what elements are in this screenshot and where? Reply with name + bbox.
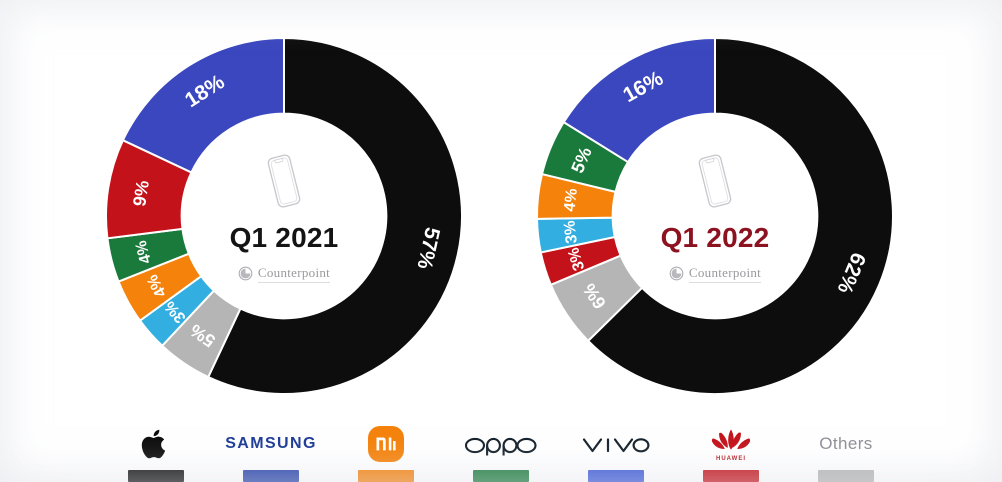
- oppo-logo-wrap: [464, 424, 538, 464]
- legend-item-oppo[interactable]: [444, 418, 559, 482]
- donut-svg-q1-2021: 57%5%3%4%4%9%18%: [104, 36, 464, 396]
- legend-item-huawei[interactable]: HUAWEI: [674, 418, 789, 482]
- legend-item-xiaomi[interactable]: [329, 418, 444, 482]
- vivo-wordmark-icon: [581, 431, 651, 457]
- legend-swatch-samsung: [243, 470, 299, 482]
- xiaomi-logo-wrap: [367, 424, 405, 464]
- huawei-logo-icon: [710, 427, 752, 455]
- xiaomi-mi-logo-icon: [367, 425, 405, 463]
- samsung-logo-wrap: SAMSUNG: [225, 424, 317, 464]
- segment-value-huawei: 9%: [129, 179, 153, 208]
- huawei-logo-wrap: HUAWEI: [710, 424, 752, 464]
- legend-item-others[interactable]: Others: [789, 418, 904, 482]
- huawei-wordmark-label: HUAWEI: [716, 456, 746, 462]
- donut-segments-q1-2021: [106, 38, 462, 394]
- apple-logo-wrap: [141, 424, 171, 464]
- oppo-wordmark-icon: [464, 431, 538, 457]
- donut-svg-q1-2022: 62%6%3%3%4%5%16%: [535, 36, 895, 396]
- legend-item-vivo[interactable]: [559, 418, 674, 482]
- vivo-logo-wrap: [581, 424, 651, 464]
- legend-swatch-oppo: [473, 470, 529, 482]
- chart-legend: SAMSUNG: [0, 414, 1002, 482]
- legend-swatch-huawei: [703, 470, 759, 482]
- legend-swatch-xiaomi: [358, 470, 414, 482]
- legend-swatch-apple: [128, 470, 184, 482]
- segment-value-xiaomi: 4%: [561, 188, 580, 213]
- legend-swatch-others: [818, 470, 874, 482]
- legend-swatch-vivo: [588, 470, 644, 482]
- legend-item-samsung[interactable]: SAMSUNG: [214, 418, 329, 482]
- chart-canvas: 57%5%3%4%4%9%18% Q1 2021 Counterpoint: [0, 0, 1002, 482]
- samsung-wordmark-icon: SAMSUNG: [225, 435, 317, 453]
- donut-chart-q1-2022: 62%6%3%3%4%5%16% Q1 2022 Counterpoint: [535, 36, 895, 396]
- donut-segments-q1-2022: [537, 38, 893, 394]
- apple-logo-icon: [141, 426, 171, 462]
- others-label-icon: Others: [819, 434, 872, 454]
- legend-item-apple[interactable]: [99, 418, 214, 482]
- segment-value-vivo: 3%: [561, 220, 580, 245]
- donut-chart-q1-2021: 57%5%3%4%4%9%18% Q1 2021 Counterpoint: [104, 36, 464, 396]
- others-logo-wrap: Others: [819, 424, 872, 464]
